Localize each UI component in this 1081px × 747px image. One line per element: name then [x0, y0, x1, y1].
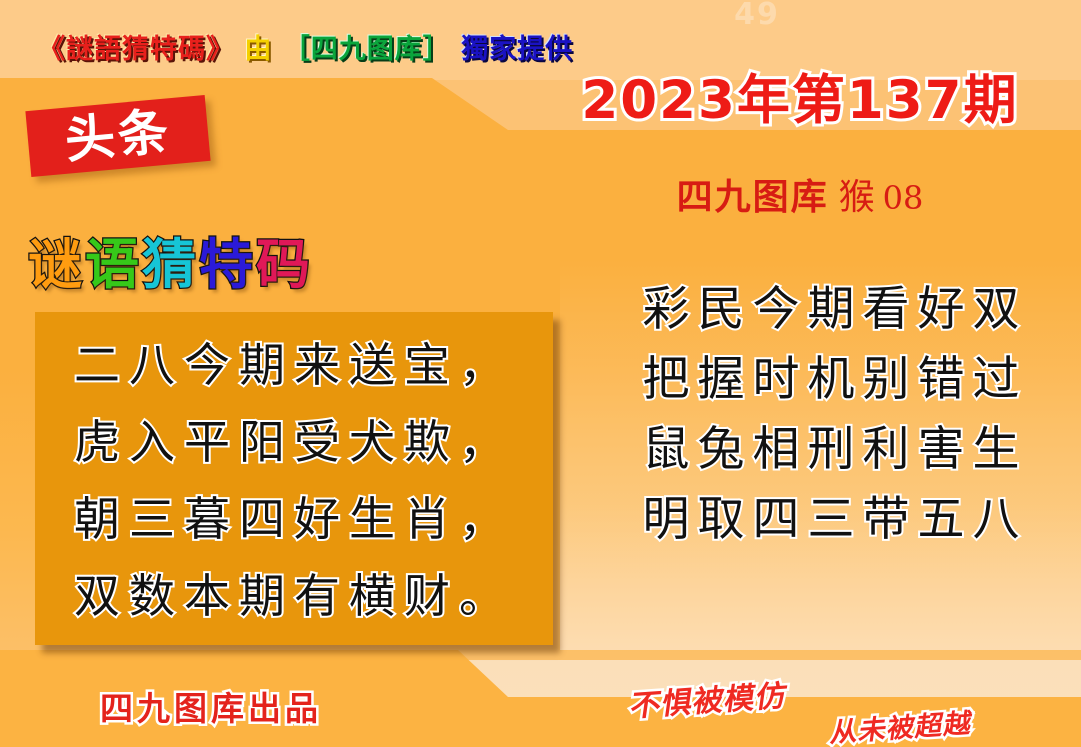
header-tagline: 《謎語猜特碼》 由 ［四九图库］ 獨家提供: [38, 27, 573, 66]
rainbow-char-5: 码: [256, 238, 313, 292]
poem-line-1: 彩民今期看好双: [600, 286, 1070, 333]
rainbow-char-3: 猜: [142, 238, 199, 292]
header-segment-exclusive: 獨家提供: [461, 27, 573, 66]
footer-brand: 四九图库出品: [100, 682, 322, 730]
header-segment-brand: ［四九图库］: [283, 27, 451, 66]
rainbow-char-2: 语: [85, 238, 142, 292]
header-segment-by: 由: [244, 27, 272, 66]
rainbow-subtitle: 谜语猜特码: [28, 238, 313, 292]
poster-canvas: 49 《謎語猜特碼》 由 ［四九图库］ 獨家提供 头条 谜语猜特码 2023年第…: [0, 0, 1081, 747]
riddle-line-2: 虎入平阳受犬欺，: [35, 419, 553, 465]
riddle-line-3: 朝三暮四好生肖，: [35, 496, 553, 542]
issue-title: 2023年第137期: [545, 72, 1055, 130]
poem-line-2: 把握时机别错过: [600, 356, 1070, 403]
rainbow-char-1: 谜: [28, 238, 85, 292]
header-segment-title: 《謎語猜特碼》: [38, 27, 234, 66]
rainbow-char-4: 特: [199, 238, 256, 292]
poem-line-4: 明取四三带五八: [600, 496, 1070, 543]
brand-name: 四九图库: [677, 176, 829, 218]
headline-badge-label: 头条: [63, 106, 173, 165]
riddle-line-4: 双数本期有横财。: [35, 573, 553, 619]
riddle-box: 二八今期来送宝， 虎入平阳受犬欺， 朝三暮四好生肖， 双数本期有横财。: [35, 312, 553, 645]
brand-zodiac-line: 四九图库猴08: [545, 168, 1055, 220]
zodiac-number: 08: [883, 179, 924, 217]
poem-line-3: 鼠兔相刑利害生: [600, 426, 1070, 473]
riddle-line-1: 二八今期来送宝，: [35, 342, 553, 388]
zodiac-label: 猴: [839, 177, 875, 218]
